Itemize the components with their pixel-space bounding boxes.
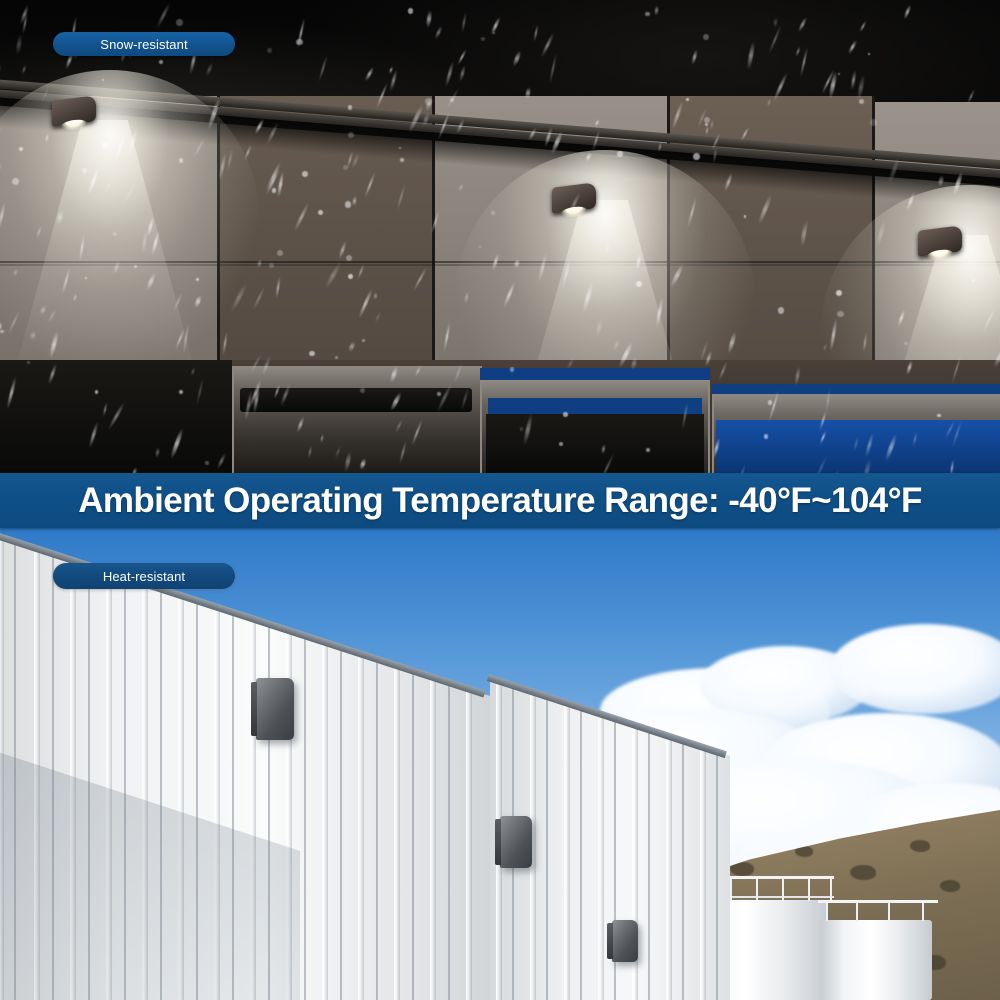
badge-heat-label: Heat-resistant [103,569,185,584]
tank-railing [818,900,938,918]
wall-pack-light [552,182,596,213]
wall-pack-light [52,95,96,126]
dock-blue-trim [712,384,1000,394]
dock-blue-trim [480,368,710,380]
storage-tank [822,920,932,1000]
loading-dock [0,360,1000,474]
panel-seam [0,261,1000,263]
dock-shadow [486,414,704,474]
dock-curtain [240,388,472,412]
temperature-range-banner: Ambient Operating Temperature Range: -40… [0,473,1000,528]
wall-pack-light [612,920,638,962]
dock-shadow [0,360,232,474]
wall-pack-light [918,225,962,256]
badge-snow-resistant: Snow-resistant [53,32,235,56]
product-feature-image: Snow-resistant Ambient Operating Tempera… [0,0,1000,1000]
badge-snow-label: Snow-resistant [100,37,187,52]
banner-title: Ambient Operating Temperature Range: -40… [78,481,922,521]
panel-seam [0,264,1000,266]
badge-heat-resistant: Heat-resistant [53,563,235,589]
snow-scene [0,0,1000,474]
heat-scene [0,528,1000,1000]
dock-blue-panel [716,420,1000,474]
wall-pack-light [256,678,294,740]
wall-pack-light [500,816,532,868]
dock-blue-panel [488,398,702,414]
dock-bay [232,366,482,474]
